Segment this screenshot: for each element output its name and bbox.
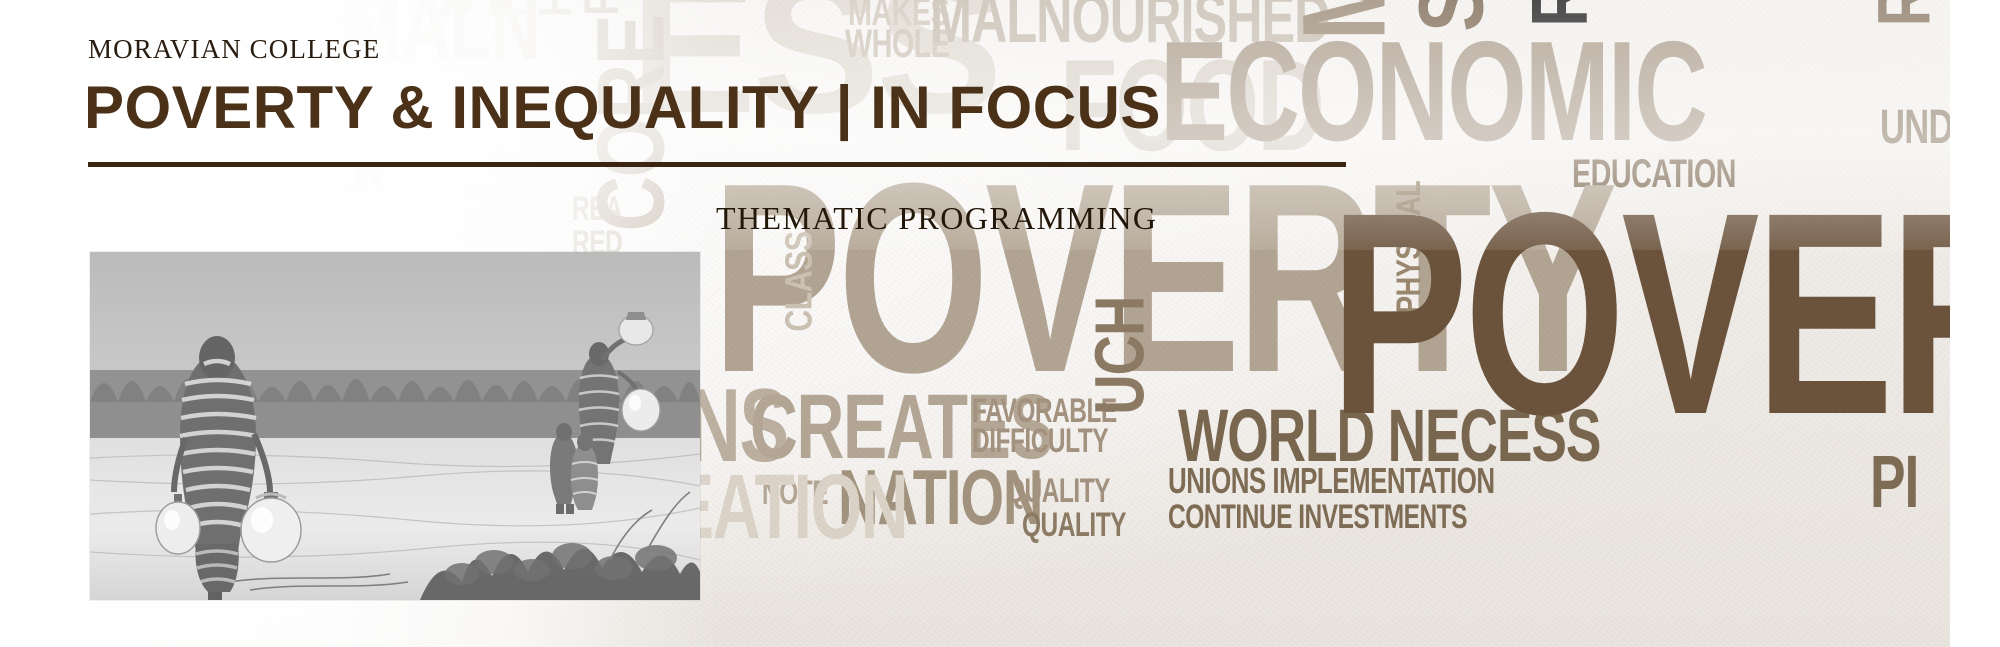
poverty-inequality-in-focus-banner: NOURISHEDMALNSTRUCTRESOHOMELESSPOPULESSM… (0, 0, 2000, 647)
woman-carrying-water-vessels-photo (90, 252, 700, 600)
title-underline-rule (88, 162, 1346, 167)
subtitle: THEMATIC PROGRAMMING (716, 200, 1157, 237)
page-title: POVERTY & INEQUALITY | IN FOCUS (84, 73, 1161, 142)
college-name: MORAVIAN COLLEGE (88, 34, 380, 65)
masthead: MORAVIAN COLLEGE POVERTY & INEQUALITY | … (0, 0, 2000, 647)
